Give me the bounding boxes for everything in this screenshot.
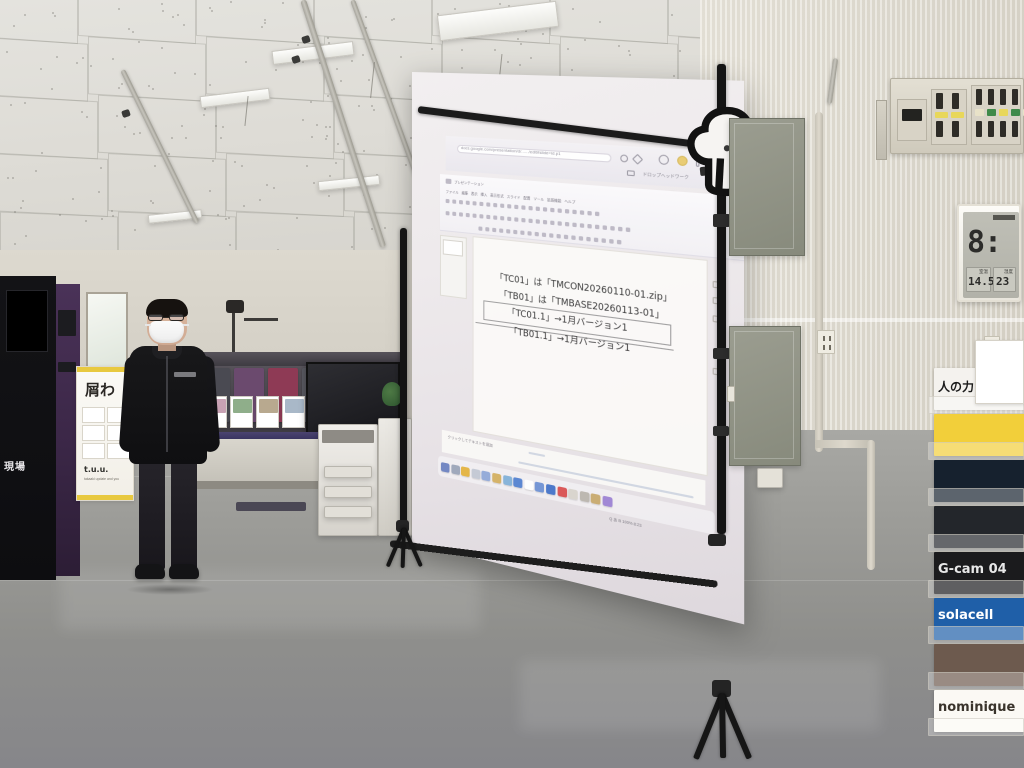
toolbar-button[interactable] [486,202,490,206]
dock-app-icon[interactable] [546,483,555,495]
ceiling-speck [225,218,227,220]
ceiling-speck [217,214,219,216]
ceiling-speck [599,21,601,23]
dock-app-icon[interactable] [591,493,601,505]
breaker-switch[interactable] [976,89,982,105]
toolbar-button[interactable] [602,238,606,243]
dock-app-icon[interactable] [482,470,491,481]
ceiling-speck [365,16,367,18]
presenter-leg [139,458,165,570]
digital-clock-thermometer: 8: 室温 14.5 湿度 23 [957,204,1021,302]
wall-junction-box [757,468,783,488]
toolbar-button[interactable] [543,207,547,212]
ceiling-speck [520,43,522,45]
cabinet-panel [734,331,794,459]
ceiling-tile [0,36,88,101]
ceiling-speck [76,62,78,64]
toolbar-button[interactable] [565,222,569,227]
ceiling-speck [517,38,519,40]
electrical-breaker-panel[interactable] [890,78,1024,154]
toolbar-button[interactable] [514,217,518,222]
poster-subtext: takaaki update and you [84,477,119,481]
ceiling-speck [342,151,344,153]
photo-image [285,399,304,413]
toolbar-button[interactable] [618,227,622,232]
office-presentation-scene: 現場 屑わ t.u.u. takaaki update and you [0,0,1024,768]
kiosk-screen[interactable] [6,290,48,352]
ceiling-speck [82,57,84,59]
ceiling-tile [98,95,216,160]
menu-item[interactable]: 表示 [471,191,478,197]
ceiling-speck [10,104,12,106]
ceiling-speck [52,12,54,14]
menu-item[interactable]: ヘルプ [564,198,575,204]
breaker-switch[interactable] [976,121,982,137]
ceiling-speck [229,244,231,246]
toolbar-button[interactable] [586,237,590,242]
photo-image [259,399,278,413]
ceiling-speck [204,108,206,110]
rack-slot [928,626,1024,644]
dock-app-icon[interactable] [492,472,501,483]
ceiling-speck [209,190,211,192]
lcd-display: 8: 室温 14.5 湿度 23 [963,212,1019,298]
wall-cabinet-lower[interactable] [729,326,801,466]
toolbar-button[interactable] [493,203,497,207]
toolbar-button[interactable] [521,218,525,223]
toolbar-button[interactable] [536,219,540,224]
ceiling-speck [259,199,261,201]
menu-item[interactable]: ファイル [446,189,459,195]
presenter-shadow [126,584,214,595]
toolbar-button[interactable] [446,211,450,215]
outlet-slot [823,336,825,341]
poster-cell [82,407,105,423]
breaker-switch[interactable] [988,121,994,137]
ceiling-tile [0,0,78,44]
toolbar-button[interactable] [594,238,598,243]
presenter-legs [139,458,199,570]
ceiling-tile [216,95,334,160]
outlet-slot [829,345,831,350]
photo-image [233,399,252,413]
brochure-title: nominique [938,700,1015,715]
potted-plant [382,382,402,406]
face-mask [149,321,184,343]
menu-item[interactable]: 表示形式 [490,192,504,198]
toolbar-button[interactable] [587,211,591,216]
slide-canvas[interactable]: 「TC01」は「TMCON20260110-01.zip」 「TB01」は「TM… [473,236,708,476]
toolbar-button[interactable] [535,232,539,237]
pole-clamp[interactable] [713,214,730,227]
wall-pipe [815,112,823,452]
ceiling-speck [212,160,214,162]
dock-app-icon[interactable] [580,490,590,502]
ceiling-speck [111,210,113,212]
toolbar-button[interactable] [492,228,496,233]
ceiling-speck [454,8,456,10]
toolbar-button[interactable] [478,226,482,231]
dock-app-icon[interactable] [441,461,450,472]
toolbar-button[interactable] [479,202,483,206]
ceiling-speck [112,215,114,217]
toolbar-button[interactable] [500,216,504,221]
ceiling-speck [168,153,170,155]
ceiling-speck [222,126,224,128]
toolbar-button[interactable] [528,231,532,236]
slide-thumbnail[interactable] [443,239,463,256]
copier-scanner-lid [322,430,374,443]
ceiling-speck [220,137,222,139]
toolbar-button[interactable] [486,215,490,220]
kiosk-slot [58,310,76,336]
presenter [118,300,222,592]
ceiling-speck [340,80,342,82]
ceiling-speck [51,88,53,90]
menu-item[interactable]: ツール [533,196,544,202]
ceiling-speck [264,19,266,21]
kiosk-slot [58,362,76,372]
toolbar-button[interactable] [595,212,599,217]
toolbar-button[interactable] [506,229,510,234]
kiosk-label: 現場 [4,458,26,473]
toolbar-button[interactable] [473,213,477,217]
menu-item[interactable]: 拡張機能 [547,197,561,203]
ceiling-speck [139,132,141,134]
breaker-switch[interactable] [1012,89,1018,105]
toolbar-button[interactable] [595,225,599,230]
ceiling-speck [264,22,266,24]
ceiling-tile [0,153,108,217]
breaker-label-tag [975,109,984,116]
ceiling-speck [22,200,24,202]
ceiling-speck [393,18,395,20]
wall-outlet[interactable] [817,330,835,354]
poster-cell [82,443,105,459]
ceiling-speck [121,83,123,85]
toolbar-button[interactable] [507,217,511,222]
ceiling-speck [128,28,130,30]
ceiling-speck [81,111,83,113]
ceiling-speck [230,1,232,3]
toolbar-button[interactable] [587,224,591,229]
brochure-rack[interactable]: 人の力G-cam 04solacellnominique [928,368,1024,768]
cabinet-latch[interactable] [727,386,735,402]
cabinet-panel [734,123,794,249]
toolbar-button[interactable] [617,240,621,245]
rack-slot [928,672,1024,690]
app-icon [446,179,452,185]
meter-display [902,109,922,121]
dock-app-icon[interactable] [603,495,613,507]
toolbar-button[interactable] [626,227,630,232]
dock-app-icon[interactable] [471,468,480,479]
ceiling-speck [327,37,329,39]
pinned-photo [256,396,279,428]
toolbar-button[interactable] [446,199,450,203]
toolbar-button[interactable] [549,233,553,238]
toolbar-button[interactable] [572,223,576,228]
dock-app-icon[interactable] [535,481,544,492]
toolbar-button[interactable] [485,227,489,232]
ceiling-speck [132,31,134,33]
ceiling-speck [368,79,370,81]
ceiling-speck [371,105,373,107]
breaker-switch[interactable] [1000,89,1006,105]
ceiling-speck [86,116,88,118]
menubar-status-items: Q あ B 100% 8:23 [609,517,641,530]
rack-slot [928,718,1024,736]
lcd-date-bar [993,215,1015,220]
toolbar-button[interactable] [550,208,554,213]
ceiling-speck [326,135,328,137]
ceiling-speck [24,102,26,104]
menu-item[interactable]: 挿入 [481,191,488,197]
wall-pipe-elbow [815,440,875,448]
pole-clamp[interactable] [713,426,729,436]
toolbar-button[interactable] [557,234,561,239]
wall-intercom[interactable] [876,100,887,160]
ceiling-speck [234,161,236,163]
rack-slot [928,580,1024,598]
ceiling-tile [88,36,206,101]
security-camera [226,300,244,313]
ceiling-speck [35,170,37,172]
ceiling-speck [311,136,313,138]
clock-time: 8: [967,228,1001,258]
presenter-jacket-logo [174,372,196,377]
ceiling-speck [134,229,136,231]
presenter-shoe [135,564,165,579]
dock-app-icon[interactable] [568,488,578,500]
ceiling-speck [273,187,275,189]
poster-headline: 屑わ [85,379,115,400]
toolbar-button[interactable] [558,208,562,213]
rack-slot [928,488,1024,506]
menu-item[interactable]: スライド [507,194,521,200]
toolbar-button[interactable] [521,205,525,210]
pole-clamp[interactable] [713,348,730,359]
ceiling-speck [14,243,16,245]
ceiling-speck [328,195,330,197]
ceiling-speck [203,114,205,116]
toolbar-button[interactable] [603,225,607,230]
ceiling-speck [150,200,152,202]
ceiling-speck [241,165,243,167]
toolbar-button[interactable] [499,228,503,233]
toolbar-button[interactable] [571,235,575,240]
dock-app-icon[interactable] [524,479,533,490]
screen-support-pole-left [400,228,407,528]
temperature-value: 14.5 [968,275,995,288]
poster-footer-logo: t.u.u. [84,465,108,474]
toolbar-button[interactable] [610,226,614,231]
ceiling-speck [183,24,185,26]
ceiling-speck [461,49,463,51]
toolbar-button[interactable] [507,204,511,209]
rack-slot [928,442,1024,460]
puzzle-icon[interactable] [659,154,669,165]
ceiling-speck [325,138,327,140]
breaker-label-tag [987,109,996,116]
presenter-zipper [166,356,168,452]
copier-tray [324,466,372,478]
ceiling-speck [174,72,176,74]
toolbar-button[interactable] [529,219,533,224]
toolbar-button[interactable] [473,201,477,205]
breaker-label-tag [999,109,1008,116]
dock-app-icon[interactable] [461,466,470,477]
glasses-icon [169,314,184,321]
breaker-label-tag [951,112,964,118]
breaker-switch[interactable] [988,89,994,105]
toolbar-button[interactable] [565,209,569,214]
toolbar-button[interactable] [514,205,518,210]
presenter-leg [171,458,197,570]
ceiling-speck [6,51,8,53]
toolbar-button[interactable] [493,215,497,220]
ceiling-speck [228,217,230,219]
toolbar-button[interactable] [609,239,613,244]
humidity-value: 23 [996,275,1009,288]
glasses-bridge [162,317,169,318]
rack-slot [928,534,1024,552]
breaker-switch[interactable] [952,93,959,109]
toolbar-button[interactable] [479,214,483,218]
outlet-slot [829,336,831,341]
outlet-slot [823,345,825,350]
toolbar-button[interactable] [520,230,524,235]
toolbar-button[interactable] [452,212,456,216]
toolbar-button[interactable] [579,236,583,241]
ceiling-speck [371,228,373,230]
copier-tray [324,486,372,498]
ceiling-speck [316,124,318,126]
ceiling-speck [25,235,27,237]
wall-cabinet-upper[interactable] [729,118,805,256]
search-icon[interactable] [620,154,628,162]
breaker-switch[interactable] [936,93,943,109]
toolbar-button[interactable] [580,223,584,228]
toolbar-button[interactable] [459,200,463,204]
toolbar-button[interactable] [466,213,470,217]
ceiling-speck [172,16,174,18]
breaker-label-tag [935,112,948,118]
toolbar-button[interactable] [529,206,533,211]
dock-app-icon[interactable] [557,486,566,498]
poster-cell [82,425,105,441]
toolbar-button[interactable] [580,210,584,215]
temperature-cell: 室温 14.5 [966,267,991,292]
presenter-shoe [169,564,199,579]
ceiling-speck [628,50,630,52]
brochure-title: solacell [938,608,993,623]
ceiling-speck [384,227,386,229]
camera-arm [244,318,278,321]
toolbar-button[interactable] [543,220,547,225]
toolbar-button[interactable] [542,233,546,238]
toolbar-button[interactable] [513,230,517,235]
brochure-title: 人の力 [938,378,974,395]
toolbar-button[interactable] [459,212,463,216]
ceiling-speck [12,177,14,179]
mask-strap [183,324,189,326]
toolbar-button[interactable] [500,203,504,208]
toolbar-button[interactable] [550,221,554,226]
dock-app-icon[interactable] [513,477,522,488]
ceiling-speck [310,101,312,103]
ceiling-speck [40,68,42,70]
brochure-title: G-cam 04 [938,562,1007,577]
digital-signage-kiosk[interactable]: 現場 [0,276,82,594]
toolbar-button[interactable] [572,210,576,215]
toolbar-button[interactable] [536,207,540,212]
tripod-collar[interactable] [708,534,726,546]
mask-strap [145,324,151,326]
pinned-photo [282,396,305,428]
mini-poster [975,340,1024,404]
ceiling-speck [118,8,120,10]
dock-app-icon[interactable] [451,464,460,475]
bookmark-folder-icon[interactable] [627,170,635,176]
breaker-switch[interactable] [936,121,943,137]
ceiling-speck [671,14,673,16]
breaker-switch[interactable] [1000,121,1006,137]
glasses-icon [148,314,163,321]
ceiling-tile [0,95,98,160]
bench [236,502,306,511]
ceiling-speck [499,3,501,5]
menu-item[interactable]: 編集 [462,190,469,196]
toolbar-button[interactable] [466,201,470,205]
floor-reflection [520,660,880,730]
wall-seam [700,318,1024,322]
ceiling-speck [124,126,126,128]
copier-tray [324,506,372,518]
tripod-leg [719,694,726,758]
toolbar-button[interactable] [452,199,456,203]
menu-item[interactable]: 配置 [523,195,530,201]
pinned-photo [230,396,253,428]
presenter-jacket [129,346,207,464]
toolbar-button[interactable] [558,221,562,226]
breaker-label-tag [1011,109,1020,116]
dock-app-icon[interactable] [503,474,512,485]
ceiling-speck [209,84,211,86]
humidity-cell: 湿度 23 [993,267,1016,292]
wall-pipe-drop [867,440,875,570]
ceiling-speck [327,95,329,97]
breaker-switch[interactable] [952,121,959,137]
ceiling-speck [161,3,163,5]
breaker-switch[interactable] [1012,121,1018,137]
toolbar-button[interactable] [564,235,568,240]
